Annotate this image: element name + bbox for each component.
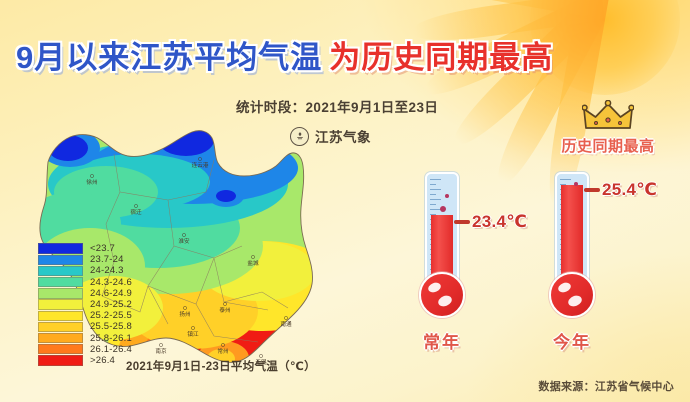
legend-row: 24-24.3 — [38, 265, 132, 276]
legend-label: 26.1-26.4 — [90, 344, 132, 355]
thermometer-this-year: 25.4℃ 今年 — [512, 172, 632, 353]
thermometer-reading: 25.4℃ — [584, 180, 657, 200]
legend-swatch — [38, 333, 83, 343]
city-label: 南京 — [155, 347, 167, 355]
tick-mark — [430, 199, 441, 200]
tick-mark — [430, 194, 436, 195]
tick-mark — [430, 204, 436, 205]
city-label: 盐城 — [247, 259, 259, 267]
sun-ray-icon — [418, 0, 610, 20]
legend-label: >26.4 — [90, 355, 115, 366]
city-label: 徐州 — [86, 178, 97, 186]
legend-swatch — [38, 344, 83, 354]
thermometer-bulb — [549, 272, 595, 318]
thermometer-label: 今年 — [512, 328, 632, 353]
legend-swatch — [38, 277, 83, 287]
legend-row: 25.5-25.8 — [38, 321, 132, 332]
record-high-label: 历史同期最高 — [533, 135, 683, 156]
leader-line-icon — [584, 188, 600, 192]
city-label: 泰州 — [219, 306, 230, 314]
legend-row: 25.8-26.1 — [38, 333, 132, 344]
city-label: 镇江 — [187, 330, 199, 338]
title-primary: 9月以来江苏平均气温 — [16, 32, 322, 77]
legend-swatch — [38, 322, 83, 332]
legend-label: 24.6-24.9 — [90, 288, 132, 299]
legend-swatch — [38, 243, 83, 253]
legend-row: 25.2-25.5 — [38, 310, 132, 321]
data-source: 数据来源：江苏省气候中心 — [538, 378, 674, 394]
thermometer-label: 常年 — [382, 328, 502, 353]
city-label: 淮安 — [178, 237, 190, 245]
page-title: 9月以来江苏平均气温 为历史同期最高 — [16, 32, 553, 77]
infographic-canvas: 9月以来江苏平均气温 为历史同期最高 统计时段：2021年9月1日至23日 江苏… — [0, 0, 690, 402]
legend-label: <23.7 — [90, 243, 115, 254]
title-highlight: 为历史同期最高 — [329, 32, 553, 77]
legend-swatch — [38, 255, 83, 265]
thermometer-bulb — [419, 272, 465, 318]
temperature-legend: <23.723.7-2424-24.324.3-24.624.6-24.924.… — [38, 243, 132, 366]
bubble-icon — [440, 206, 446, 212]
legend-label: 24.3-24.6 — [90, 277, 132, 288]
city-label: 连云港 — [192, 161, 209, 169]
thermometer-normal-years: 23.4℃ 常年 — [382, 172, 502, 353]
legend-label: 25.5-25.8 — [90, 321, 132, 332]
legend-swatch — [38, 355, 83, 365]
legend-label: 24-24.3 — [90, 265, 124, 276]
crown-icon — [582, 100, 634, 134]
legend-row: >26.4 — [38, 355, 132, 366]
tick-mark — [430, 184, 436, 185]
legend-row: 24.6-24.9 — [38, 288, 132, 299]
legend-swatch — [38, 311, 83, 321]
legend-label: 24.9-25.2 — [90, 299, 132, 310]
legend-swatch — [38, 288, 83, 298]
city-label: 常州 — [217, 347, 228, 355]
city-label: 南通 — [280, 320, 292, 328]
legend-label: 25.2-25.5 — [90, 310, 132, 321]
legend-label: 25.8-26.1 — [90, 333, 132, 344]
tick-mark — [430, 189, 441, 190]
record-high-badge: 历史同期最高 — [533, 100, 683, 156]
thermometer-value: 25.4℃ — [602, 180, 657, 200]
thermometer-mercury — [561, 185, 583, 282]
leader-line-icon — [454, 220, 470, 224]
city-label: 扬州 — [179, 310, 190, 318]
city-label: 宿迁 — [130, 208, 142, 216]
legend-row: 23.7-24 — [38, 254, 132, 265]
tick-mark — [560, 179, 571, 180]
legend-row: 24.9-25.2 — [38, 299, 132, 310]
city-marker-icon — [159, 343, 162, 346]
legend-row: 26.1-26.4 — [38, 344, 132, 355]
legend-row: 24.3-24.6 — [38, 277, 132, 288]
legend-swatch — [38, 299, 83, 309]
bubble-icon — [445, 194, 449, 198]
legend-label: 23.7-24 — [90, 254, 124, 265]
legend-swatch — [38, 266, 83, 276]
map-caption: 2021年9月1日-23日平均气温（℃） — [126, 358, 316, 374]
bubble-icon — [574, 182, 578, 186]
legend-row: <23.7 — [38, 243, 132, 254]
tick-mark — [430, 179, 441, 180]
